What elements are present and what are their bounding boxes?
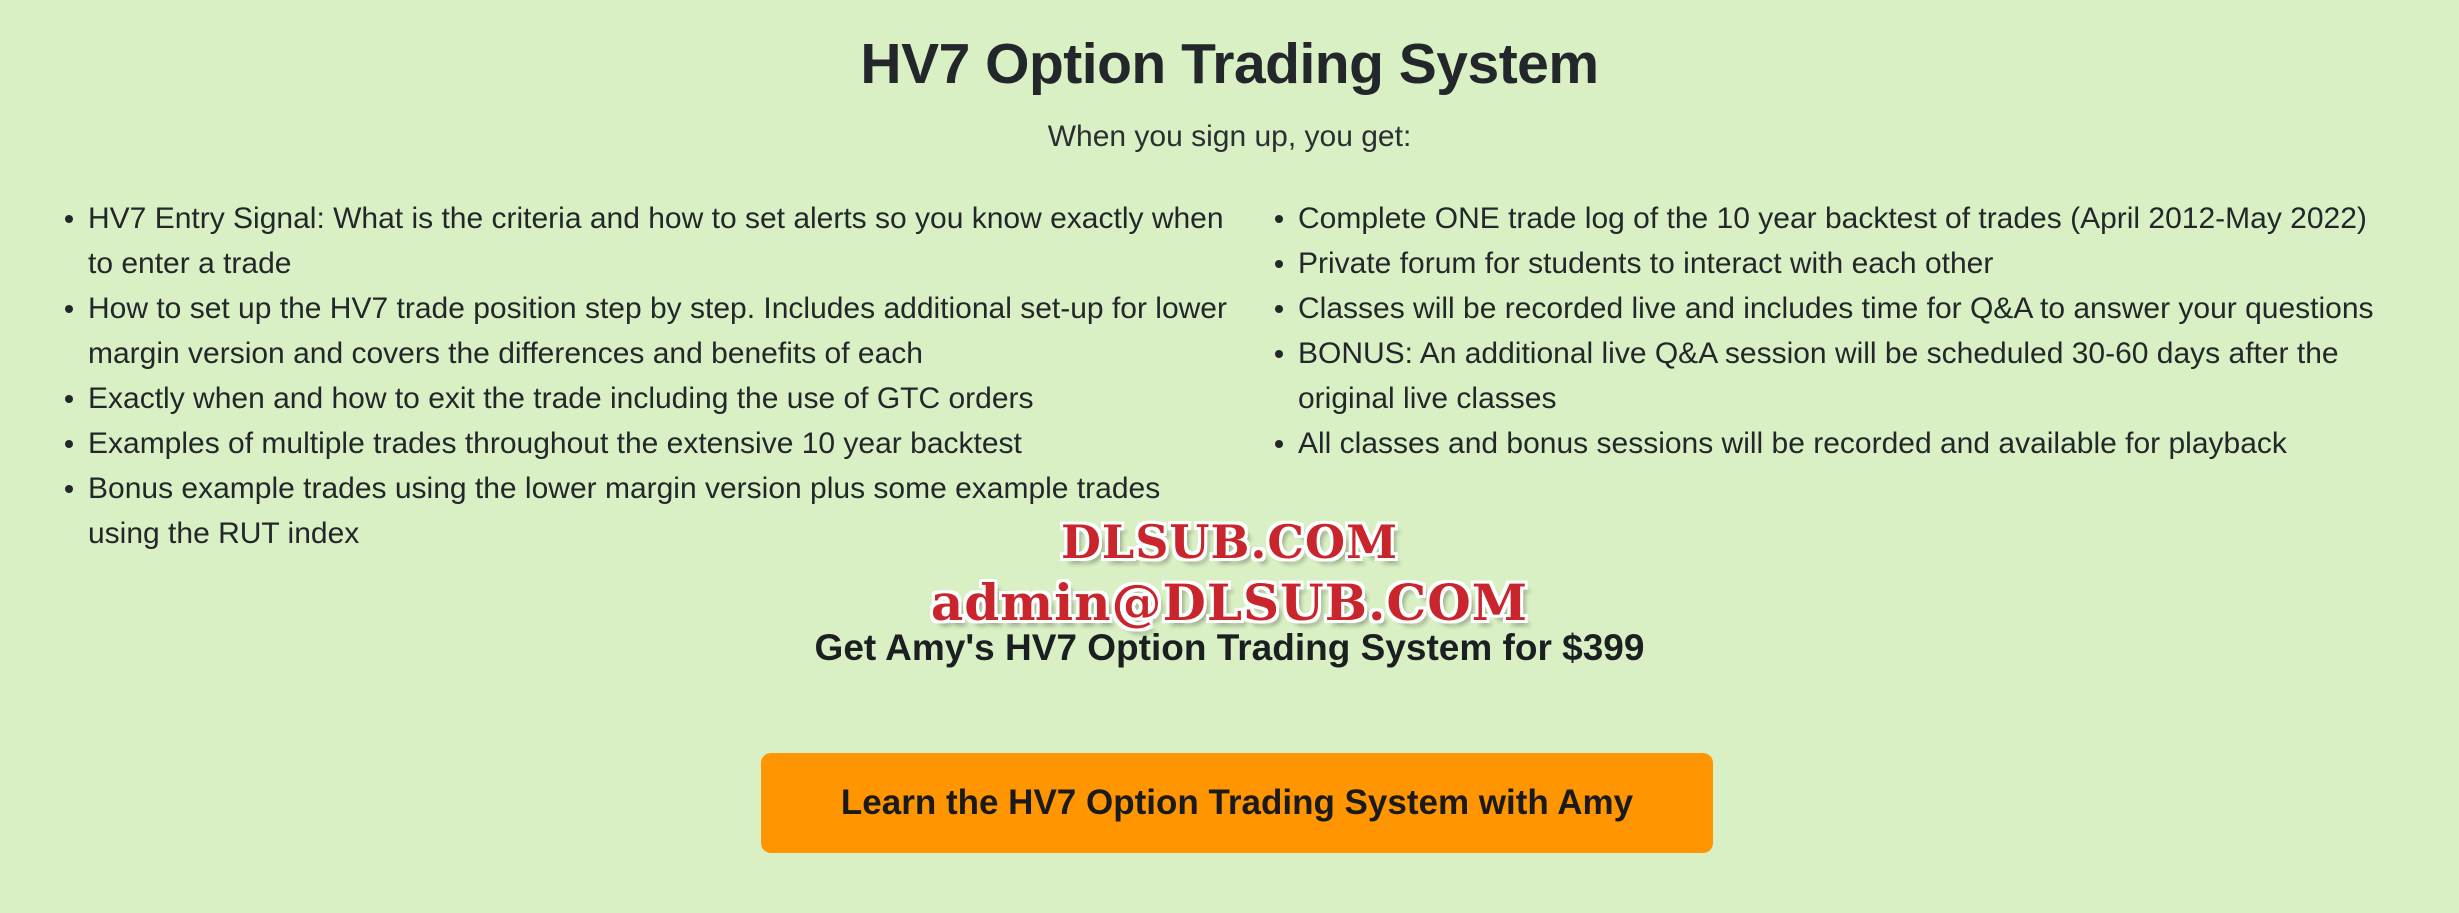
page-title: HV7 Option Trading System bbox=[0, 0, 2459, 96]
list-item: Complete ONE trade log of the 10 year ba… bbox=[1265, 196, 2419, 241]
list-item: Private forum for students to interact w… bbox=[1265, 241, 2419, 286]
cta-headline: Get Amy's HV7 Option Trading System for … bbox=[0, 627, 2459, 669]
list-item: BONUS: An additional live Q&A session wi… bbox=[1265, 331, 2419, 421]
learn-hv7-system-button[interactable]: Learn the HV7 Option Trading System with… bbox=[761, 753, 1713, 853]
watermark-email-text: admin@DLSUB.COM bbox=[0, 573, 2459, 632]
list-item: HV7 Entry Signal: What is the criteria a… bbox=[55, 196, 1235, 286]
page-subtitle: When you sign up, you get: bbox=[0, 96, 2459, 154]
list-item: Classes will be recorded live and includ… bbox=[1265, 286, 2419, 331]
benefits-right-column: Complete ONE trade log of the 10 year ba… bbox=[1245, 196, 2459, 466]
list-item: Bonus example trades using the lower mar… bbox=[55, 466, 1235, 556]
benefits-left-list: HV7 Entry Signal: What is the criteria a… bbox=[55, 196, 1235, 556]
list-item: How to set up the HV7 trade position ste… bbox=[55, 286, 1235, 376]
benefits-left-column: HV7 Entry Signal: What is the criteria a… bbox=[0, 196, 1245, 556]
list-item: Exactly when and how to exit the trade i… bbox=[55, 376, 1235, 421]
landing-page: HV7 Option Trading System When you sign … bbox=[0, 0, 2459, 913]
benefits-right-list: Complete ONE trade log of the 10 year ba… bbox=[1265, 196, 2419, 466]
list-item: All classes and bonus sessions will be r… bbox=[1265, 421, 2419, 466]
list-item: Examples of multiple trades throughout t… bbox=[55, 421, 1235, 466]
benefits-columns: HV7 Entry Signal: What is the criteria a… bbox=[0, 196, 2459, 556]
